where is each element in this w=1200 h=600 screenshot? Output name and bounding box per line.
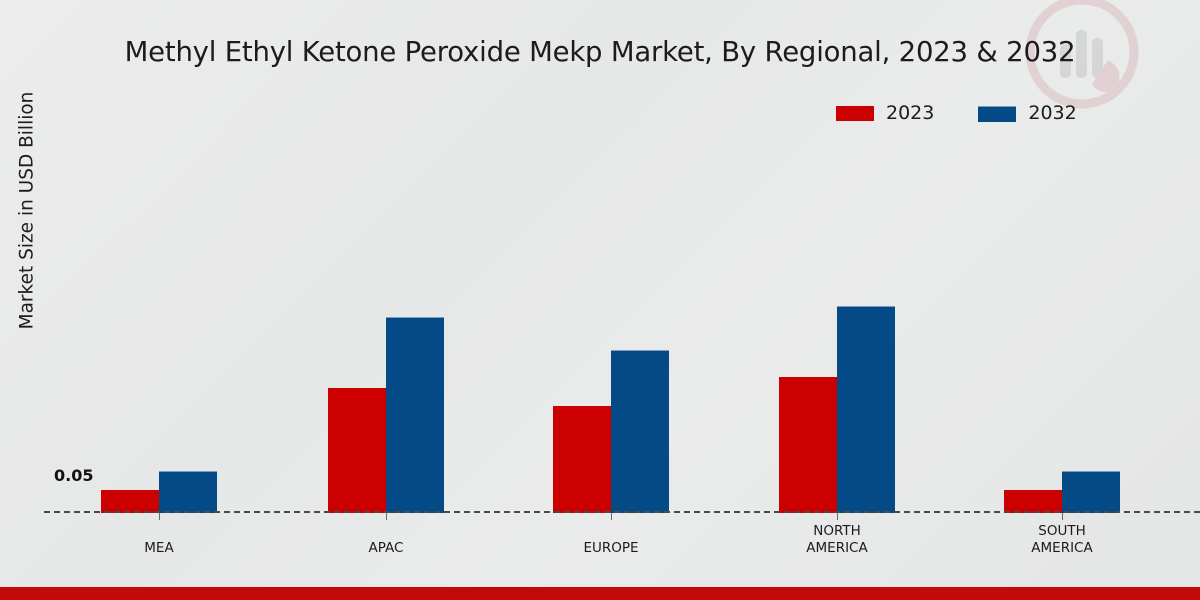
category-label-north-america-line2: AMERICA	[806, 540, 867, 556]
bars-south-america	[947, 150, 1177, 513]
x-axis-baseline	[44, 511, 1200, 513]
bar-europe-2023[interactable]	[553, 406, 611, 513]
chart-container: Methyl Ethyl Ketone Peroxide Mekp Market…	[0, 0, 1200, 600]
category-label-apac-line1: APAC	[369, 540, 404, 556]
legend-swatch-2023	[836, 106, 874, 121]
category-label-apac: APAC	[271, 540, 501, 557]
category-label-north-america-line1: NORTH	[813, 523, 861, 539]
bar-group-south-america: SOUTHAMERICA	[947, 150, 1177, 513]
bar-north-america-2023[interactable]	[779, 377, 837, 513]
category-label-south-america-line1: SOUTH	[1038, 523, 1085, 539]
bar-europe-2032[interactable]	[611, 350, 669, 513]
bar-apac-2023[interactable]	[328, 388, 386, 513]
category-label-mea-line1: MEA	[144, 540, 173, 556]
bottom-accent-band	[0, 587, 1200, 600]
bar-north-america-2032[interactable]	[837, 306, 895, 513]
category-label-europe-line1: EUROPE	[583, 540, 638, 556]
chart-title: Methyl Ethyl Ketone Peroxide Mekp Market…	[0, 36, 1200, 68]
bar-group-europe: EUROPE	[496, 150, 726, 513]
category-label-south-america-line2: AMERICA	[1031, 540, 1092, 556]
bar-mea-2032[interactable]	[159, 471, 217, 513]
category-label-south-america: SOUTHAMERICA	[947, 523, 1177, 557]
category-label-europe: EUROPE	[496, 540, 726, 557]
tick-europe	[611, 513, 612, 520]
bar-south-america-2023[interactable]	[1004, 490, 1062, 513]
plot-area: 0.05 MEA APAC EUROPE	[44, 150, 1200, 513]
bar-group-mea: 0.05 MEA	[44, 150, 274, 513]
bar-apac-2032[interactable]	[386, 317, 444, 513]
tick-north-america	[837, 513, 838, 520]
bars-apac	[271, 150, 501, 513]
chart-legend: 2023 2032	[836, 104, 1077, 123]
legend-item-2023[interactable]: 2023	[836, 104, 934, 123]
y-axis-title: Market Size in USD Billion	[17, 16, 38, 406]
bar-group-north-america: NORTHAMERICA	[722, 150, 952, 513]
bar-group-apac: APAC	[271, 150, 501, 513]
legend-item-2032[interactable]: 2032	[978, 104, 1076, 123]
category-label-mea: MEA	[44, 540, 274, 557]
bars-europe	[496, 150, 726, 513]
legend-label-2032: 2032	[1028, 104, 1076, 123]
bars-north-america	[722, 150, 952, 513]
legend-swatch-2032	[978, 106, 1016, 122]
bar-mea-2023[interactable]	[101, 490, 159, 513]
tick-south-america	[1062, 513, 1063, 520]
category-label-north-america: NORTHAMERICA	[722, 523, 952, 557]
tick-mea	[159, 513, 160, 520]
legend-label-2023: 2023	[886, 104, 934, 123]
tick-apac	[386, 513, 387, 520]
bars-mea	[44, 150, 274, 513]
bar-south-america-2032[interactable]	[1062, 471, 1120, 513]
